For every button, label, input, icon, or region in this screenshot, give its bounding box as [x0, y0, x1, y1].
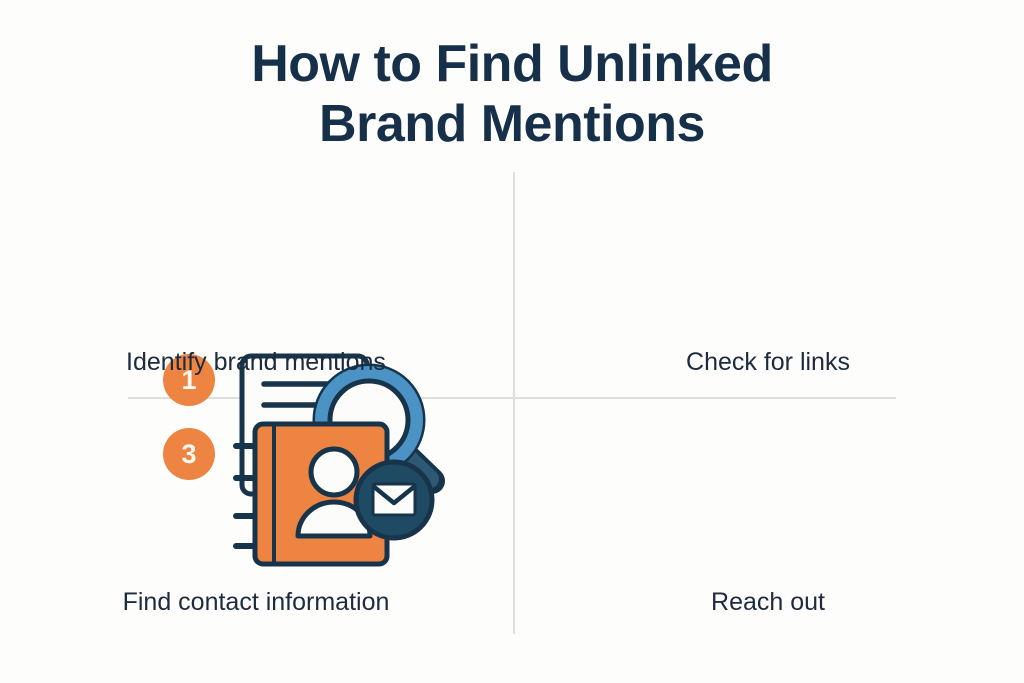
page-title: How to Find Unlinked Brand Mentions — [0, 34, 1024, 154]
step-label-4: Reach out — [512, 588, 1024, 617]
step-card-1[interactable]: 1 Ident — [0, 170, 512, 410]
step-card-2[interactable]: 2 — [512, 170, 1024, 410]
title-line-1: How to Find Unlinked — [0, 34, 1024, 94]
address-book-envelope-icon — [222, 418, 447, 578]
step-label-3: Find contact information — [0, 588, 512, 617]
title-line-2: Brand Mentions — [0, 94, 1024, 154]
step-card-4[interactable]: 4 Reach out — [512, 410, 1024, 650]
step-card-3[interactable]: 3 — [0, 410, 512, 650]
infographic-canvas: How to Find Unlinked Brand Mentions 1 — [0, 0, 1024, 683]
step-number-badge-3: 3 — [163, 428, 215, 480]
step-label-1: Identify brand mentions — [0, 348, 512, 377]
step-label-2: Check for links — [512, 348, 1024, 377]
